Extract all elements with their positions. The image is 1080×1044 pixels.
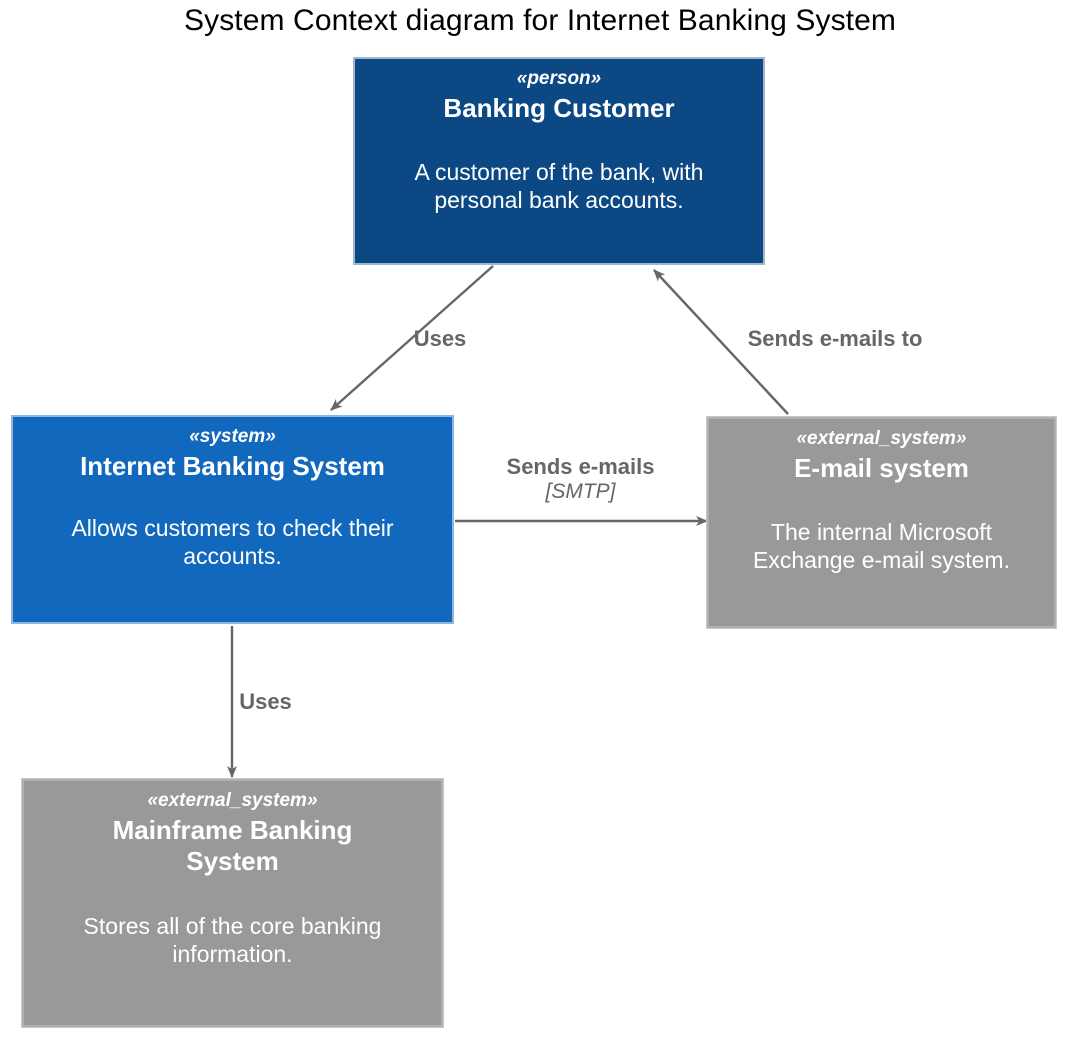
- node-name: Banking Customer: [435, 93, 682, 124]
- node-description: Allows customers to check their accounts…: [13, 514, 452, 570]
- edge-label-email-sends-to-customer: Sends e-mails to: [690, 327, 980, 352]
- node-description: A customer of the bank, with personal ba…: [355, 158, 763, 214]
- edge-label-ibs-sends-emails: Sends e-mails [SMTP]: [468, 455, 693, 503]
- node-email-system[interactable]: «external_system» E-mail system The inte…: [707, 417, 1056, 628]
- edge-label-text: Uses: [178, 690, 353, 715]
- node-name: Mainframe Banking System: [60, 815, 406, 876]
- node-stereotype: «system»: [189, 427, 276, 448]
- page-title: System Context diagram for Internet Bank…: [0, 4, 1080, 38]
- edge-label-customer-uses-ibs: Uses: [345, 327, 535, 352]
- edge-label-text: Sends e-mails: [468, 455, 693, 480]
- node-stereotype: «external_system»: [147, 791, 317, 812]
- node-description: The internal Microsoft Exchange e-mail s…: [709, 518, 1054, 574]
- edge-label-ibs-uses-mainframe: Uses: [178, 690, 353, 715]
- edge-label-text: Sends e-mails to: [690, 327, 980, 352]
- edge-label-text: Uses: [345, 327, 535, 352]
- diagram-canvas: System Context diagram for Internet Bank…: [0, 0, 1080, 1044]
- edge-label-technology: [SMTP]: [468, 480, 693, 504]
- node-name: E-mail system: [786, 453, 977, 484]
- node-stereotype: «person»: [517, 69, 601, 90]
- node-internet-banking-system[interactable]: «system» Internet Banking System Allows …: [11, 415, 454, 624]
- node-stereotype: «external_system»: [796, 429, 966, 450]
- node-mainframe-banking-system[interactable]: «external_system» Mainframe Banking Syst…: [22, 779, 443, 1027]
- node-description: Stores all of the core banking informati…: [24, 912, 441, 968]
- node-banking-customer[interactable]: «person» Banking Customer A customer of …: [353, 57, 765, 265]
- node-name: Internet Banking System: [72, 451, 393, 482]
